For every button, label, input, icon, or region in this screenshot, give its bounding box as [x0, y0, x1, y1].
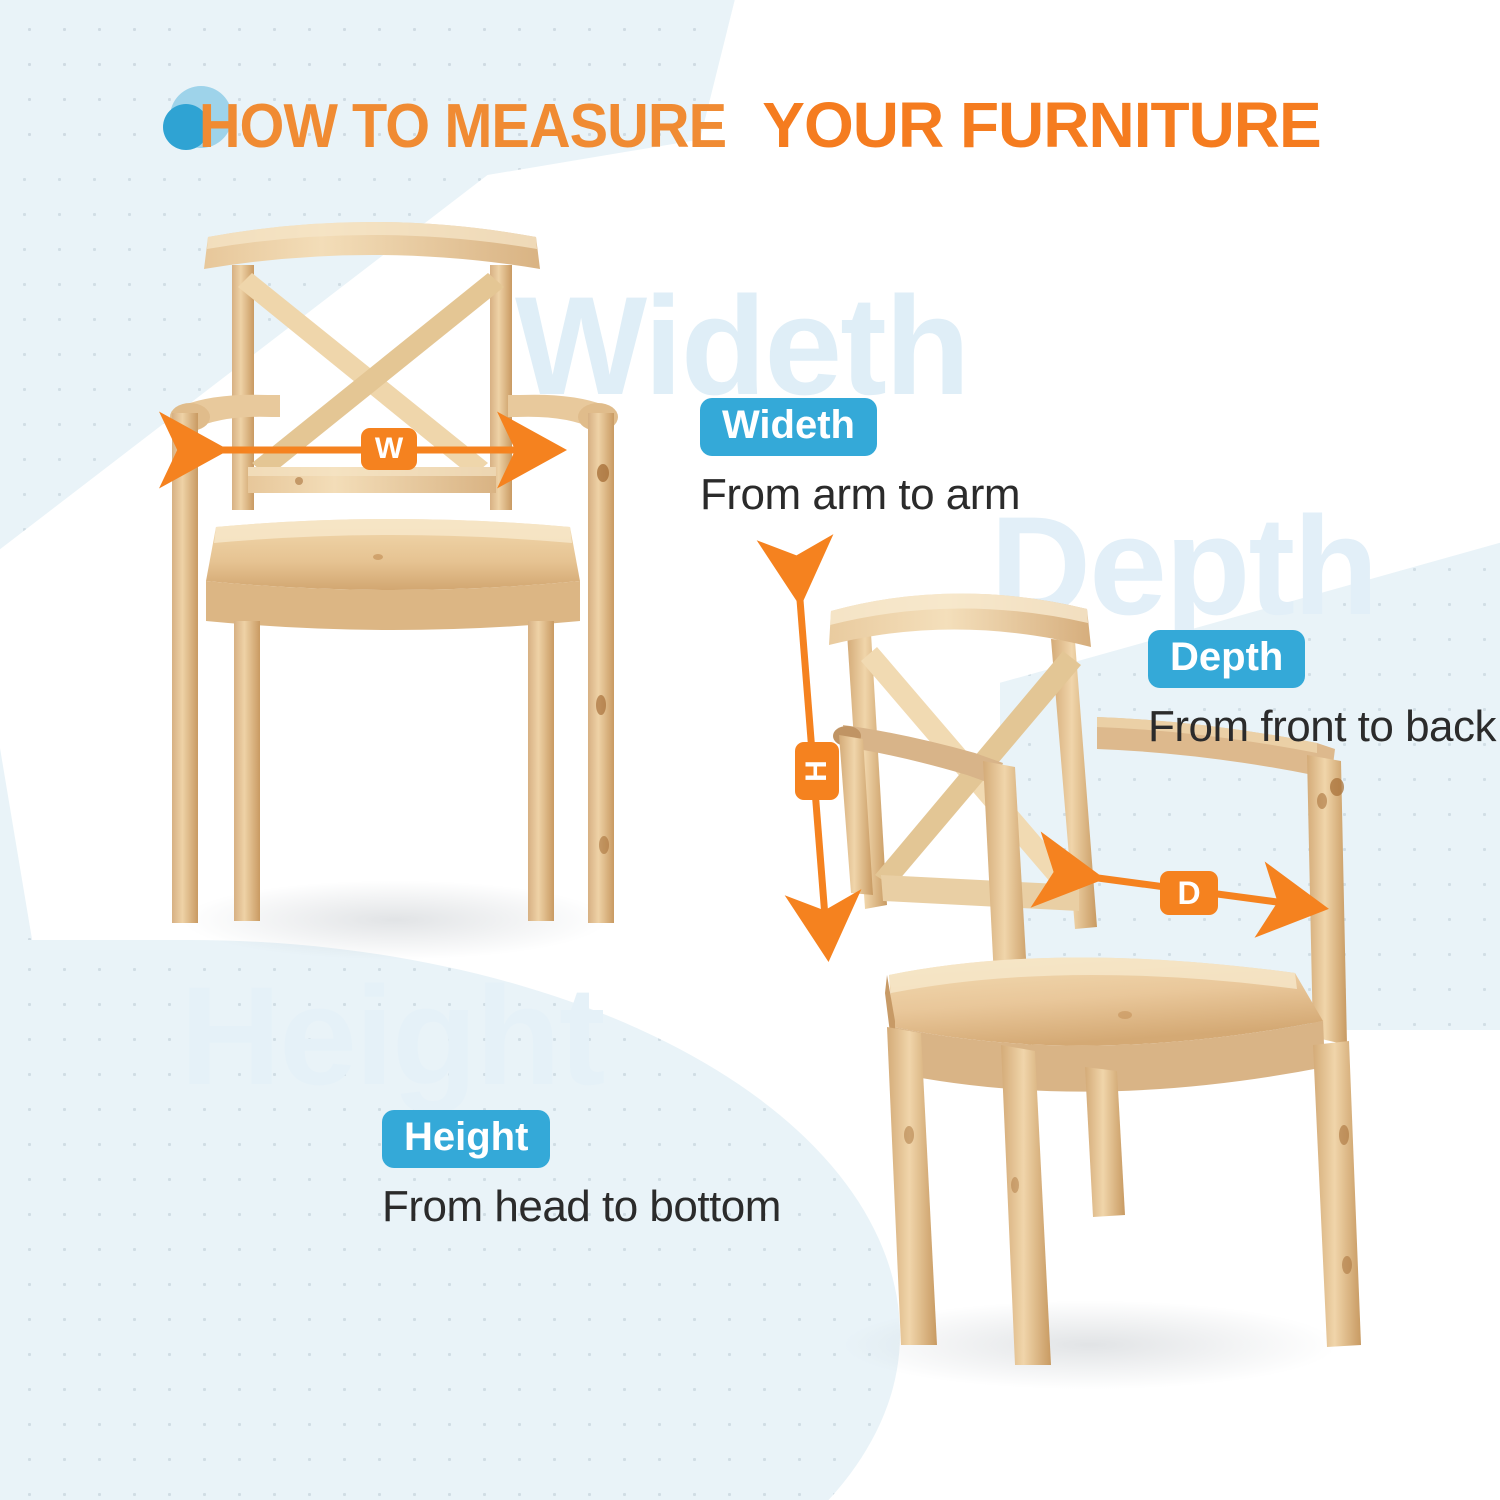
- callout-wideth: Wideth From arm to arm: [700, 398, 1020, 520]
- width-dimension-badge: W: [361, 428, 417, 470]
- height-dimension-badge-label: H: [802, 760, 832, 782]
- callout-height-badge: Height: [382, 1110, 550, 1168]
- callout-depth-badge: Depth: [1148, 630, 1305, 688]
- callout-height-description: From head to bottom: [382, 1182, 781, 1232]
- callout-wideth-description: From arm to arm: [700, 470, 1020, 520]
- height-dimension-badge: H: [795, 742, 839, 800]
- depth-dimension-badge: D: [1160, 871, 1218, 915]
- callout-wideth-badge: Wideth: [700, 398, 877, 456]
- infographic-canvas: Wideth Depth Height HOW TO MEASUREYOUR F…: [0, 0, 1500, 1500]
- callout-depth: Depth From front to back: [1148, 630, 1496, 752]
- callout-height: Height From head to bottom: [382, 1110, 781, 1232]
- callout-depth-description: From front to back: [1148, 702, 1496, 752]
